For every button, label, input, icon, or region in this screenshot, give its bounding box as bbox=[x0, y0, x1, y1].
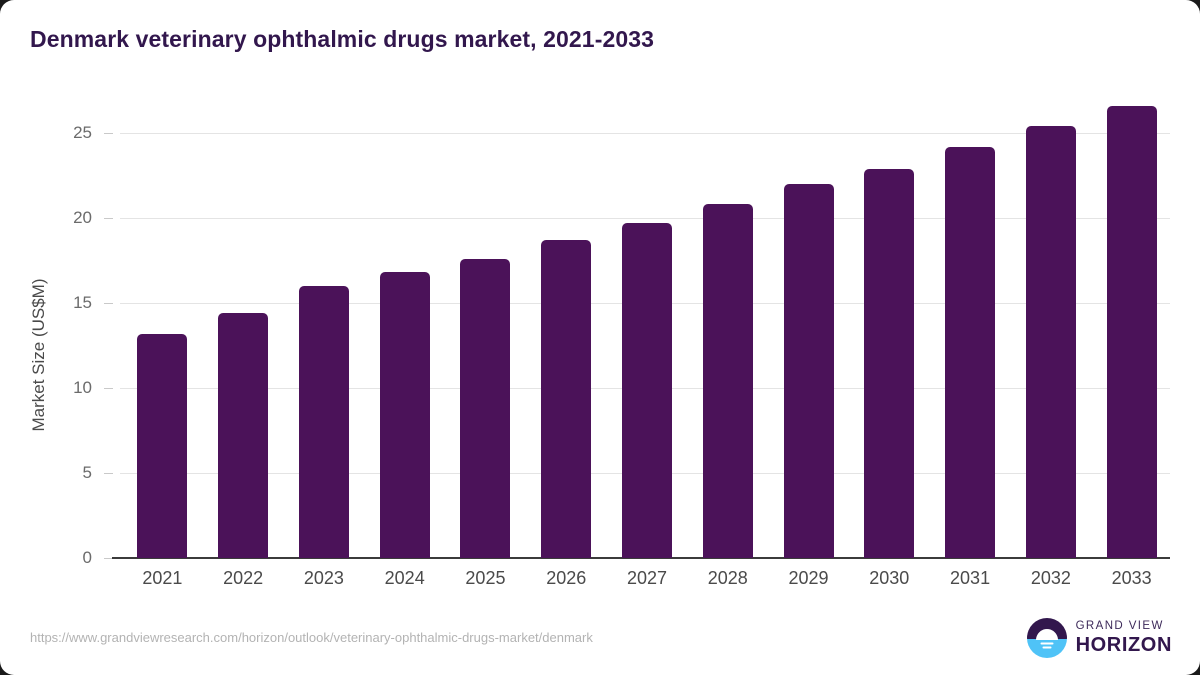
x-axis-tick-label: 2025 bbox=[440, 568, 530, 589]
y-axis-tick-mark bbox=[104, 388, 113, 389]
x-axis-tick-label: 2024 bbox=[360, 568, 450, 589]
y-axis-tick-label: 15 bbox=[22, 293, 92, 313]
x-axis-tick-label: 2033 bbox=[1087, 568, 1177, 589]
x-axis-tick-label: 2022 bbox=[198, 568, 288, 589]
bar[interactable] bbox=[1107, 106, 1157, 558]
x-axis-tick-label: 2021 bbox=[117, 568, 207, 589]
bar[interactable] bbox=[218, 313, 268, 558]
bar[interactable] bbox=[541, 240, 591, 558]
bar[interactable] bbox=[380, 272, 430, 558]
y-axis-tick-label: 0 bbox=[22, 548, 92, 568]
y-axis-tick-label: 20 bbox=[22, 208, 92, 228]
x-axis-tick-label: 2030 bbox=[844, 568, 934, 589]
chart-card: Denmark veterinary ophthalmic drugs mark… bbox=[0, 0, 1200, 675]
y-axis-tick-mark bbox=[104, 473, 113, 474]
x-axis-tick-label: 2031 bbox=[925, 568, 1015, 589]
bar[interactable] bbox=[622, 223, 672, 558]
bar[interactable] bbox=[299, 286, 349, 558]
y-axis-tick-label: 5 bbox=[22, 463, 92, 483]
y-axis-tick-label: 25 bbox=[22, 123, 92, 143]
x-axis-tick-label: 2029 bbox=[764, 568, 854, 589]
source-url[interactable]: https://www.grandviewresearch.com/horizo… bbox=[30, 630, 593, 645]
bar[interactable] bbox=[1026, 126, 1076, 558]
chart-canvas: Market Size (US$M) 0510152025 2021202220… bbox=[0, 0, 1200, 675]
logo-wordmark: GRAND VIEW HORIZON bbox=[1076, 621, 1172, 655]
plot-area bbox=[120, 133, 1170, 558]
y-axis-tick-mark bbox=[104, 218, 113, 219]
bar[interactable] bbox=[460, 259, 510, 558]
bar[interactable] bbox=[945, 147, 995, 558]
x-axis-tick-label: 2032 bbox=[1006, 568, 1096, 589]
brand-logo[interactable]: GRAND VIEW HORIZON bbox=[1027, 618, 1172, 658]
y-axis-title: Market Size (US$M) bbox=[29, 225, 49, 485]
grand-view-horizon-logo-icon bbox=[1027, 618, 1067, 658]
logo-line-1: GRAND VIEW bbox=[1076, 621, 1172, 633]
bar[interactable] bbox=[137, 334, 187, 558]
bar[interactable] bbox=[864, 169, 914, 558]
x-axis-tick-label: 2028 bbox=[683, 568, 773, 589]
y-axis-tick-label: 10 bbox=[22, 378, 92, 398]
y-axis-tick-mark bbox=[104, 303, 113, 304]
logo-line-2: HORIZON bbox=[1076, 635, 1172, 655]
bar[interactable] bbox=[703, 204, 753, 558]
x-axis-tick-label: 2027 bbox=[602, 568, 692, 589]
bar[interactable] bbox=[784, 184, 834, 558]
y-axis-tick-mark bbox=[104, 133, 113, 134]
x-axis-tick-label: 2023 bbox=[279, 568, 369, 589]
x-axis-tick-label: 2026 bbox=[521, 568, 611, 589]
